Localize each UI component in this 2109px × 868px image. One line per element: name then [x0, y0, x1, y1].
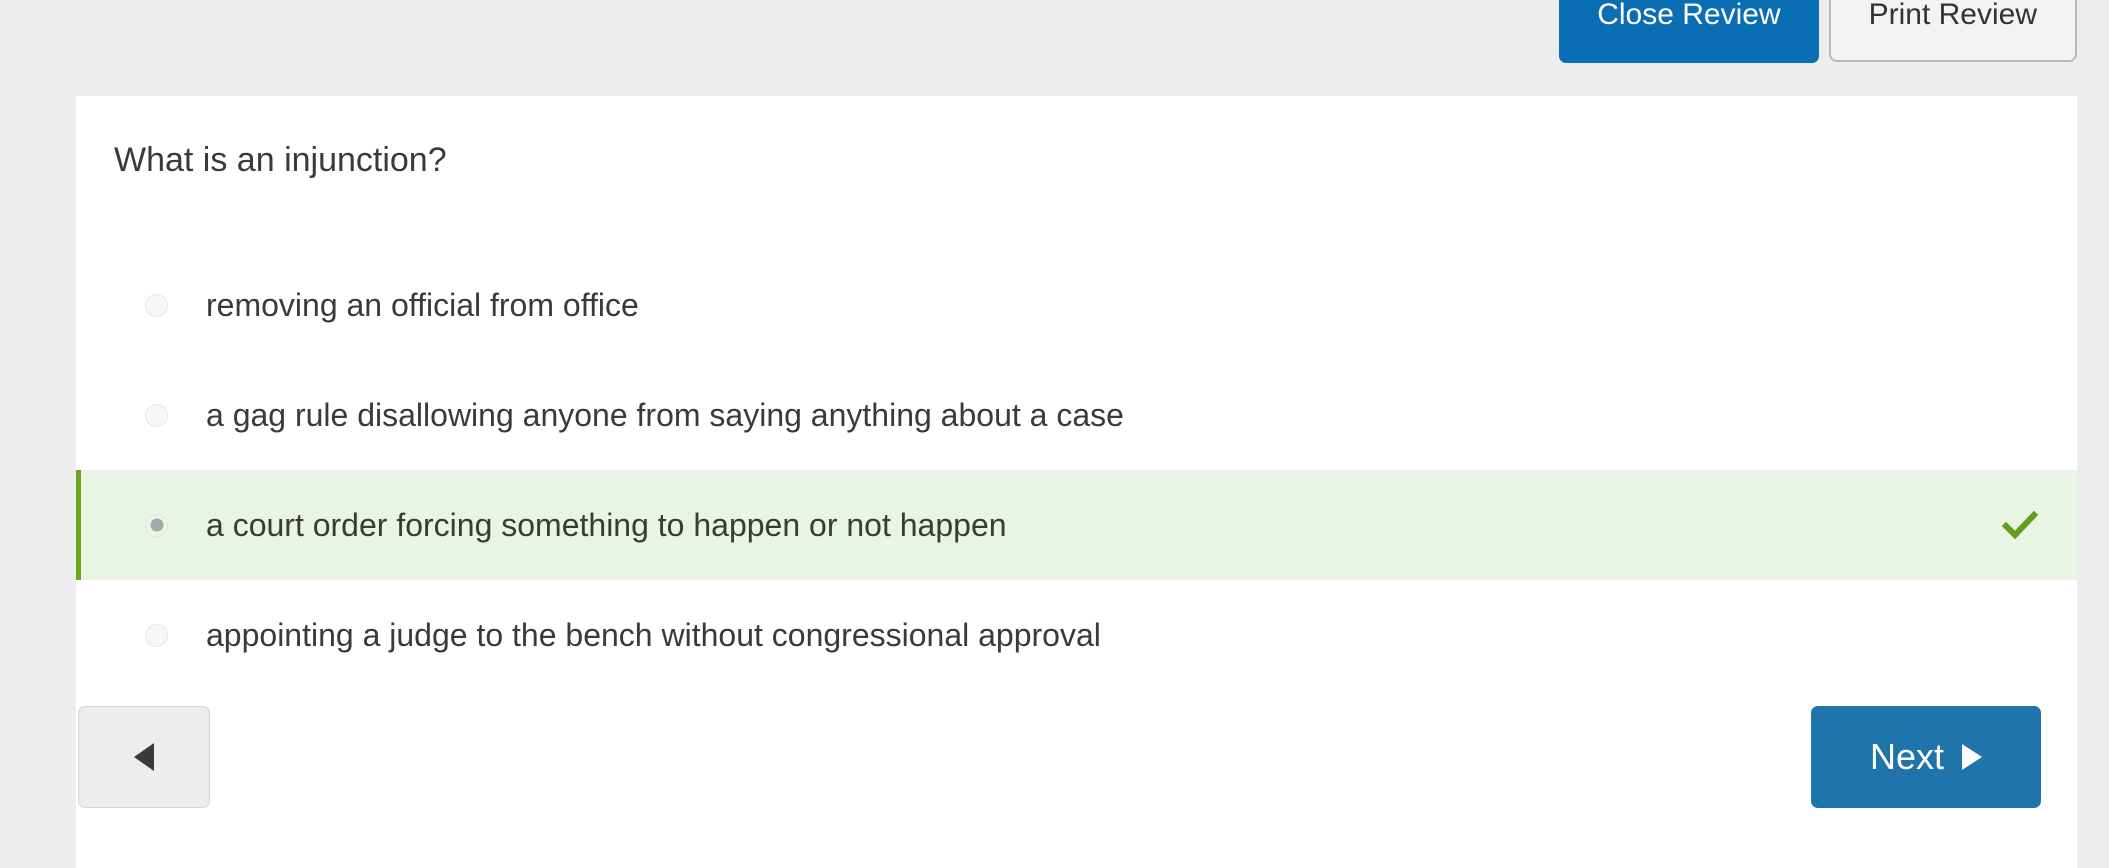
triangle-left-icon [134, 743, 154, 771]
radio-button[interactable] [145, 404, 168, 427]
radio-button[interactable] [145, 624, 168, 647]
answer-options-list: removing an official from office a gag r… [76, 250, 2077, 690]
answer-option-row-selected[interactable]: a court order forcing something to happe… [76, 470, 2077, 580]
radio-dot-icon [150, 519, 163, 532]
review-toolbar: Close Review Print Review [0, 0, 2109, 96]
radio-button[interactable] [145, 294, 168, 317]
radio-button[interactable] [145, 514, 168, 537]
question-navigation: Next [76, 688, 2077, 868]
next-question-button[interactable]: Next [1811, 706, 2041, 808]
close-review-button[interactable]: Close Review [1559, 0, 1818, 63]
answer-option-label: a court order forcing something to happe… [206, 505, 1007, 545]
correct-check-icon [2001, 506, 2039, 544]
next-button-label: Next [1870, 736, 1944, 778]
previous-question-button[interactable] [78, 706, 210, 808]
question-card: What is an injunction? removing an offic… [76, 96, 2077, 868]
answer-option-label: removing an official from office [206, 285, 639, 325]
answer-option-label: appointing a judge to the bench without … [206, 615, 1101, 655]
answer-option-row[interactable]: a gag rule disallowing anyone from sayin… [76, 360, 2077, 470]
quiz-review-screen: Close Review Print Review What is an inj… [0, 0, 2109, 868]
print-review-button[interactable]: Print Review [1829, 0, 2077, 62]
answer-option-row[interactable]: appointing a judge to the bench without … [76, 580, 2077, 690]
triangle-right-icon [1962, 744, 1982, 770]
question-prompt: What is an injunction? [114, 140, 447, 181]
answer-option-label: a gag rule disallowing anyone from sayin… [206, 395, 1124, 435]
answer-option-row[interactable]: removing an official from office [76, 250, 2077, 360]
toolbar-actions: Close Review Print Review [1559, 0, 2077, 63]
